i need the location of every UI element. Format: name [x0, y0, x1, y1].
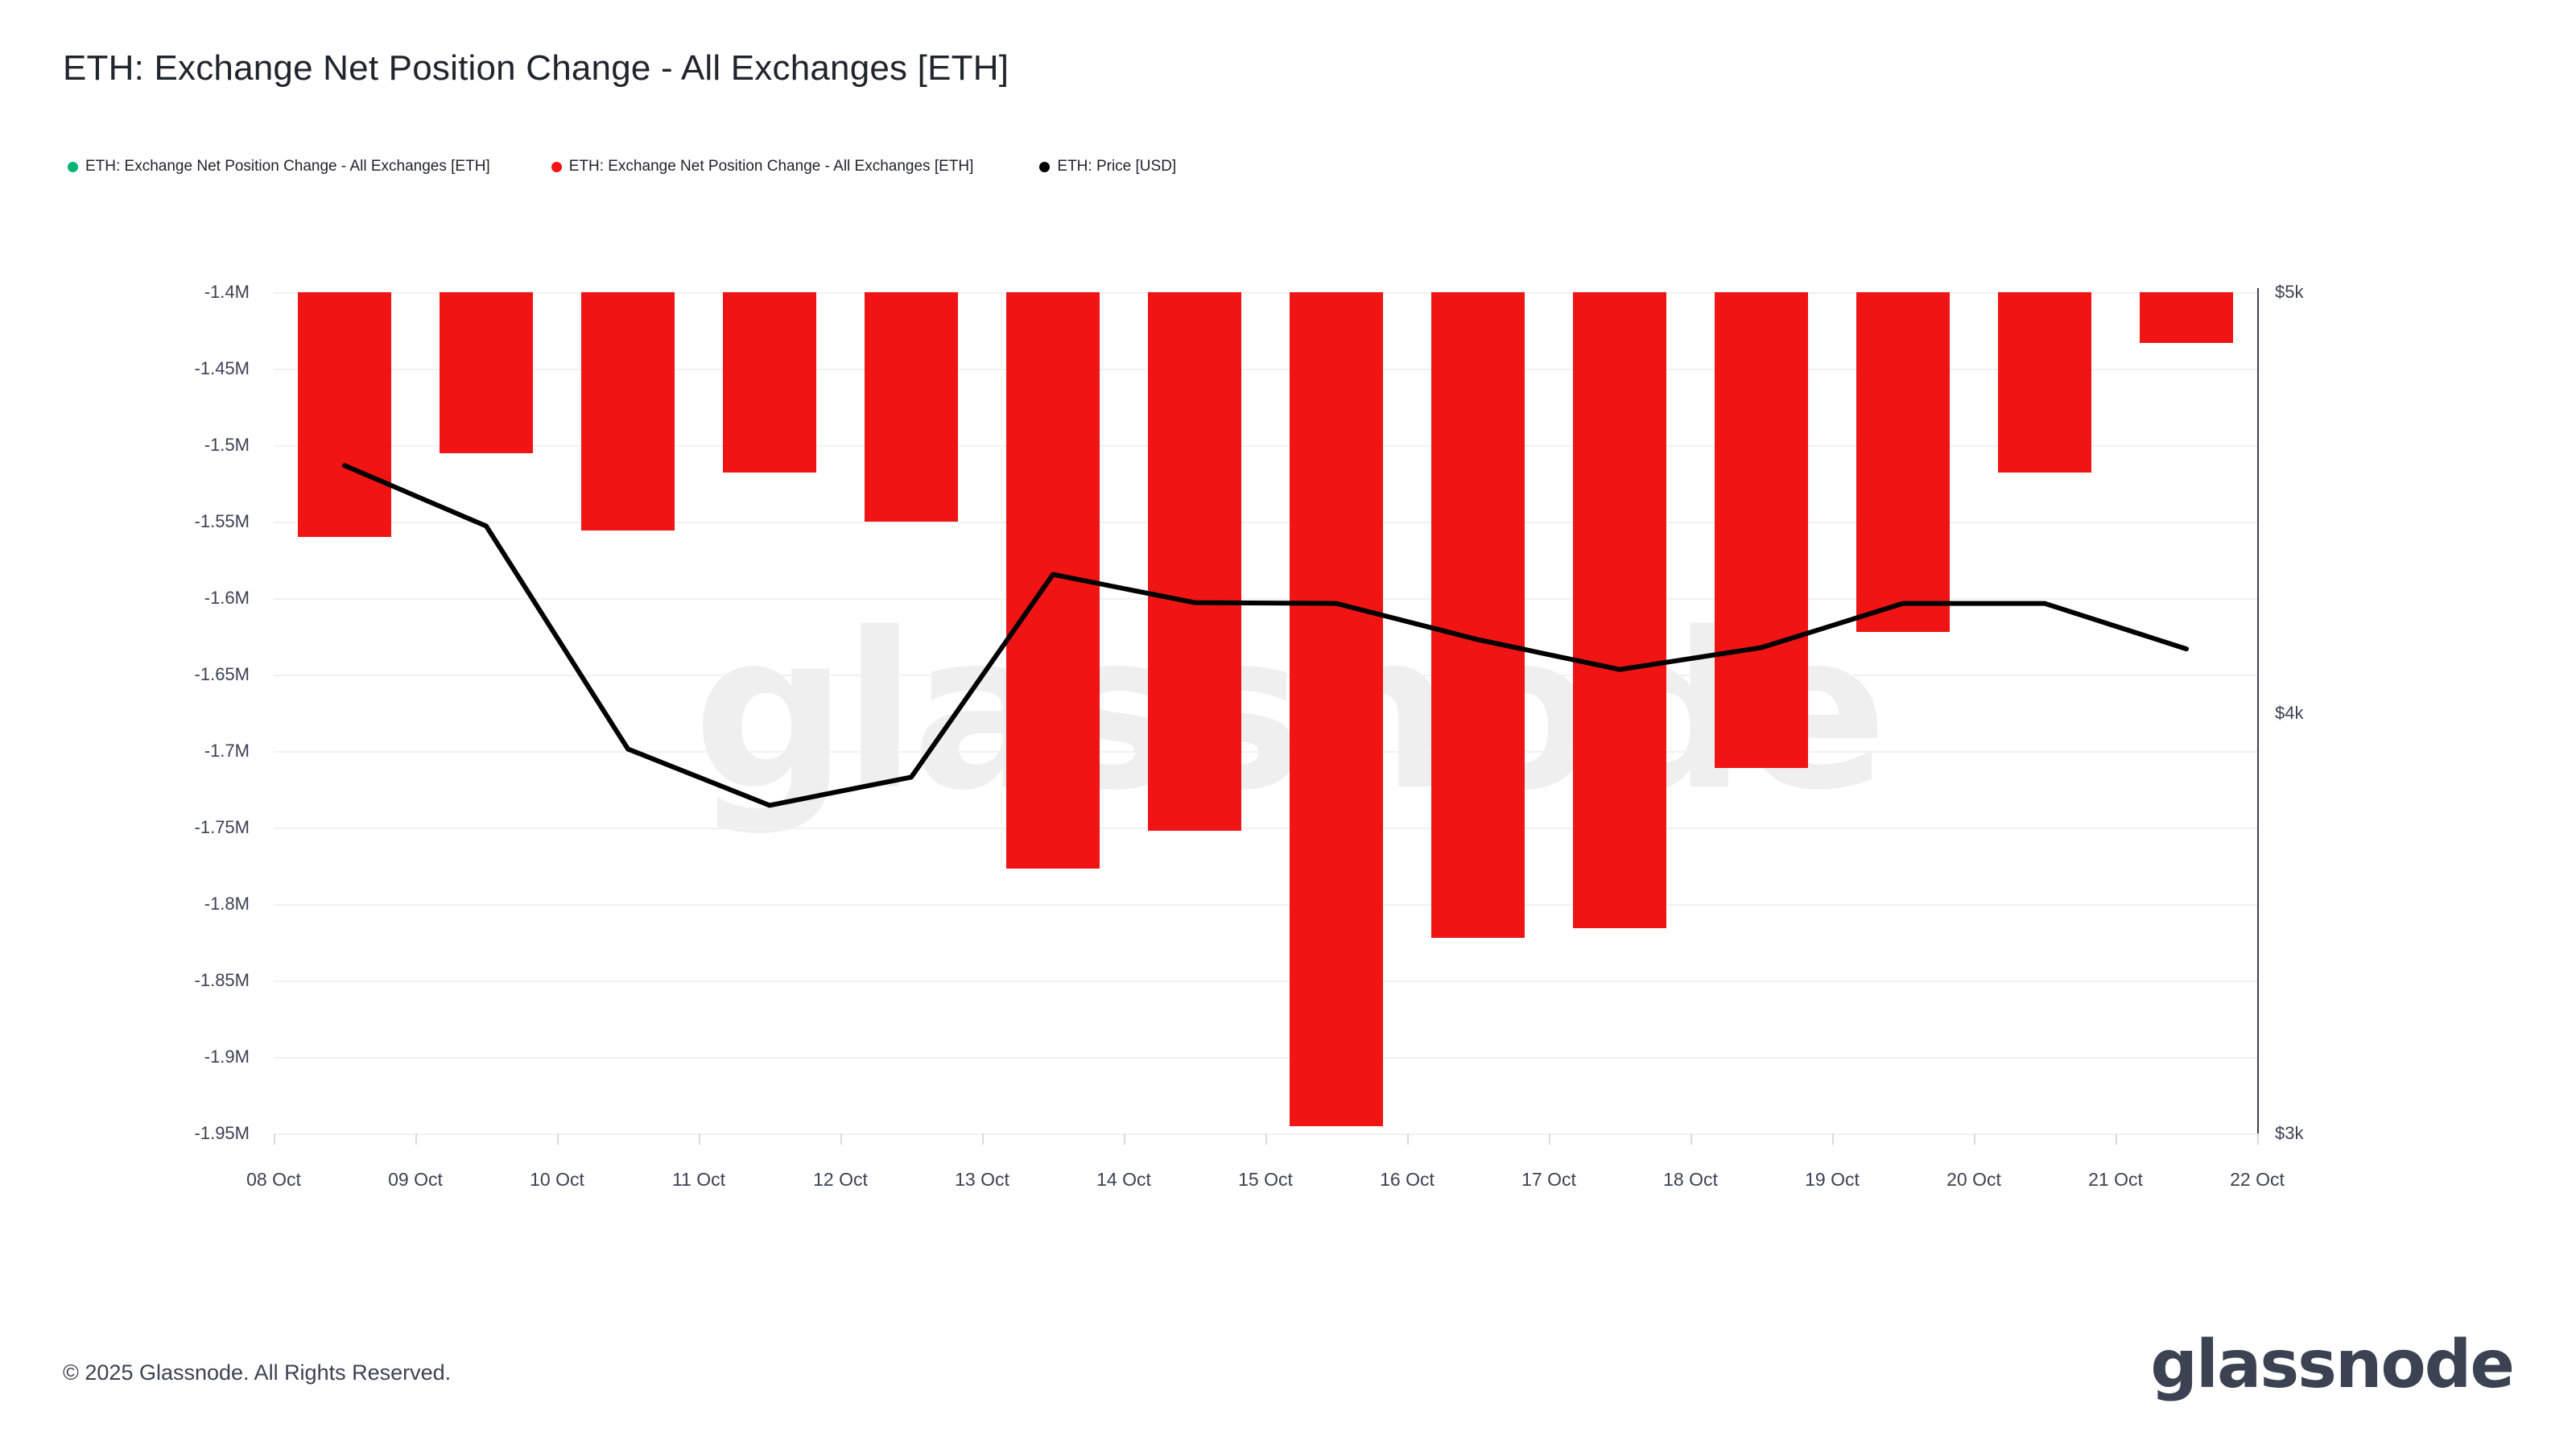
x-axis-tick [1407, 1133, 1409, 1145]
x-axis-tick-label: 18 Oct [1663, 1169, 1718, 1191]
x-axis-tick-label: 17 Oct [1521, 1169, 1576, 1191]
legend-label: ETH: Exchange Net Position Change - All … [569, 158, 974, 175]
x-axis-tick-label: 16 Oct [1380, 1169, 1435, 1191]
x-axis-tick [1690, 1133, 1692, 1145]
x-axis-tick-label: 11 Oct [672, 1169, 725, 1191]
legend-dot-icon [551, 162, 562, 172]
x-axis-tick-label: 15 Oct [1238, 1169, 1293, 1191]
y-axis-left-tick-label: -1.5M [204, 435, 250, 456]
right-axis-line [2257, 288, 2259, 1138]
x-axis-tick-label: 09 Oct [388, 1169, 443, 1191]
y-axis-left-tick-label: -1.65M [195, 664, 250, 685]
x-axis-tick [1124, 1133, 1125, 1145]
x-axis-tick [415, 1133, 417, 1145]
x-axis-tick [557, 1133, 559, 1145]
chart-card: ETH: Exchange Net Position Change - All … [0, 0, 2576, 1449]
y-axis-right-tick-label: $4k [2275, 703, 2303, 724]
legend-item-net-position-red[interactable]: ETH: Exchange Net Position Change - All … [551, 158, 974, 175]
x-axis-tick-label: 10 Oct [530, 1169, 584, 1191]
y-axis-left: -1.4M-1.45M-1.5M-1.55M-1.6M-1.65M-1.7M-1… [105, 0, 250, 1449]
y-axis-right: $5k$4k$3k [2275, 0, 2436, 1449]
footer-logo: glassnode [2150, 1327, 2513, 1403]
y-axis-left-tick-label: -1.85M [195, 970, 250, 991]
plot-area [274, 292, 2257, 1133]
x-axis-tick [982, 1133, 984, 1145]
legend-item-eth-price[interactable]: ETH: Price [USD] [1039, 158, 1176, 175]
x-axis-tick [1832, 1133, 1834, 1145]
x-axis-tick [2116, 1133, 2117, 1145]
price-polyline [345, 465, 2186, 805]
x-axis: 08 Oct09 Oct10 Oct11 Oct12 Oct13 Oct14 O… [0, 1133, 2576, 1230]
x-axis-tick-label: 20 Oct [1946, 1169, 2001, 1191]
footer-copyright: © 2025 Glassnode. All Rights Reserved. [63, 1360, 451, 1385]
y-axis-left-tick-label: -1.45M [195, 358, 250, 379]
y-axis-left-tick-label: -1.75M [195, 817, 250, 838]
y-axis-left-tick-label: -1.4M [204, 282, 250, 303]
x-axis-tick-label: 12 Oct [813, 1169, 868, 1191]
line-series-eth-price [274, 292, 2257, 1133]
x-axis-tick-label: 13 Oct [955, 1169, 1009, 1191]
x-axis-tick [699, 1133, 700, 1145]
x-axis-tick-label: 21 Oct [2088, 1169, 2143, 1191]
y-axis-left-tick-label: -1.55M [195, 511, 250, 532]
legend-dot-icon [68, 162, 78, 172]
y-axis-right-tick-label: $5k [2275, 282, 2303, 303]
y-axis-left-tick-label: -1.8M [204, 894, 250, 914]
x-axis-tick-label: 08 Oct [246, 1169, 301, 1191]
x-axis-tick [1974, 1133, 1975, 1145]
x-axis-tick-label: 22 Oct [2230, 1169, 2285, 1191]
x-axis-tick [274, 1133, 275, 1145]
x-axis-tick-label: 14 Oct [1096, 1169, 1151, 1191]
x-axis-tick [840, 1133, 842, 1145]
x-axis-tick [1265, 1133, 1267, 1145]
y-axis-left-tick-label: -1.6M [204, 588, 250, 609]
legend-dot-icon [1039, 162, 1050, 172]
x-axis-tick [2257, 1133, 2259, 1145]
y-axis-left-tick-label: -1.7M [204, 741, 250, 762]
x-axis-tick-label: 19 Oct [1805, 1169, 1860, 1191]
legend-label: ETH: Price [USD] [1057, 158, 1176, 175]
y-axis-left-tick-label: -1.9M [204, 1046, 250, 1067]
x-axis-tick [1549, 1133, 1550, 1145]
